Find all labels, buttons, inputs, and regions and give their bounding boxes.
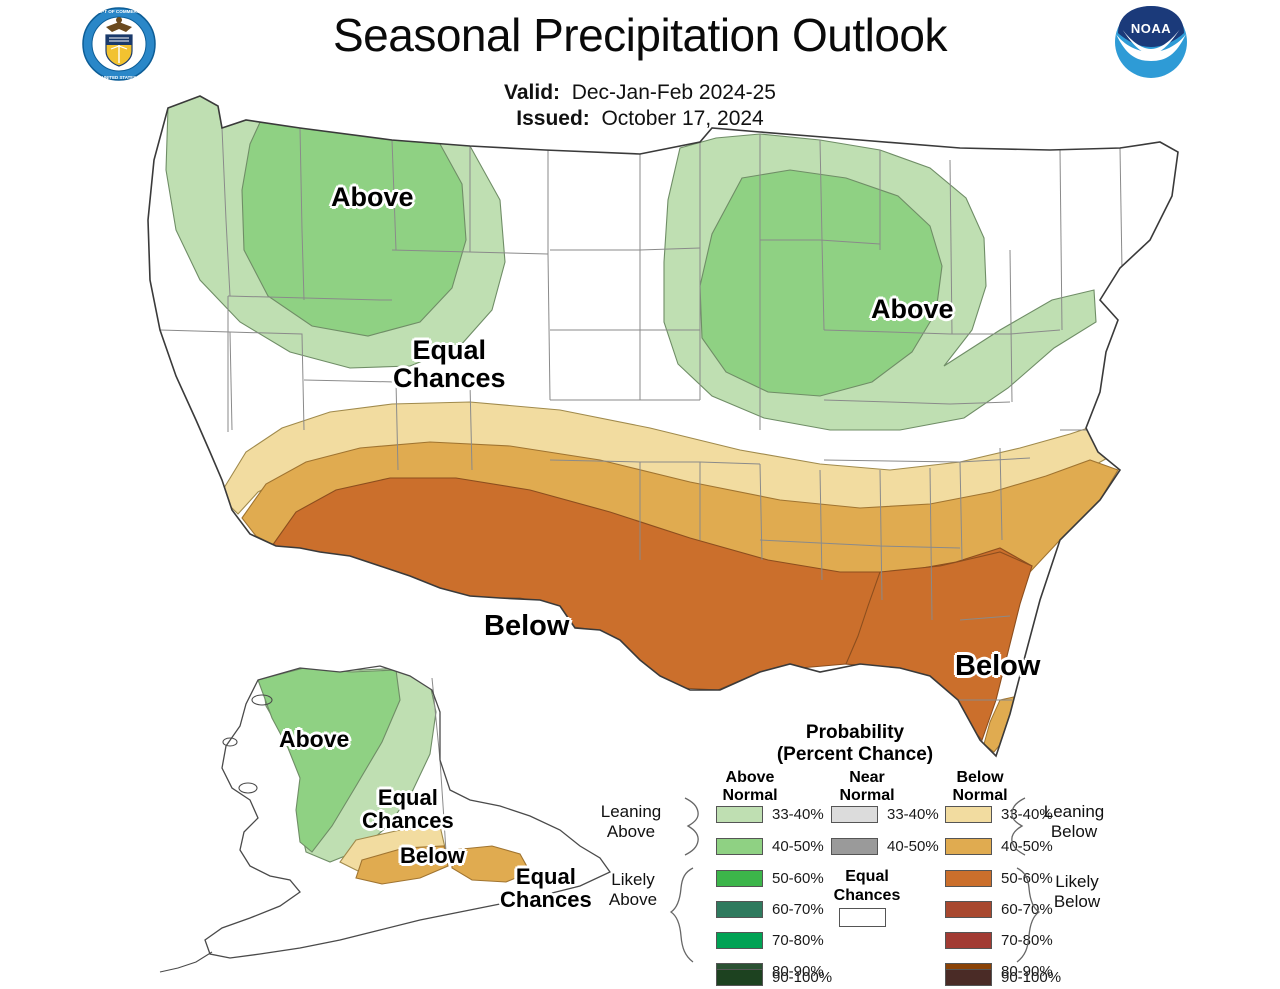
legend-label-above-40-50: 40-50%	[772, 838, 824, 855]
legend-row-above-0: 33-40%	[716, 803, 824, 825]
legend-eq-line1: Equal	[822, 867, 912, 886]
legend-group-leaning-below: Leaning Below	[1028, 802, 1120, 842]
legend-label-below-70-80: 70-80%	[1001, 932, 1053, 949]
legend-row-above-1: 40-50%	[716, 835, 824, 857]
legend-head-line: Near	[822, 769, 912, 787]
legend-swatch-above-70-80	[716, 932, 763, 949]
legend-label-above-90-100: 90-100%	[772, 969, 832, 986]
legend-swatch-above-33-40	[716, 806, 763, 823]
legend-label-above-70-80: 70-80%	[772, 932, 824, 949]
valid-value: Dec-Jan-Feb 2024-25	[572, 81, 776, 104]
map-label-alaska-above: Above	[279, 728, 349, 752]
legend-head-line: Below	[935, 769, 1025, 787]
legend-column-header-below: Below Normal	[935, 769, 1025, 805]
map-label-below-southeast: Below	[955, 651, 1040, 681]
precipitation-outlook-page: Above Equal Chances Above Below Below Ab…	[0, 0, 1280, 989]
legend-swatch-above-40-50	[716, 838, 763, 855]
legend-group-line: Above	[585, 822, 677, 842]
legend-swatch-above-90-100	[716, 969, 763, 986]
legend-row-below-4: 70-80%	[945, 929, 1053, 951]
legend-label-near-40-50: 40-50%	[887, 838, 939, 855]
legend-swatch-above-50-60	[716, 870, 763, 887]
issued-spacer	[590, 107, 602, 130]
legend-swatch-below-33-40	[945, 806, 992, 823]
legend-group-line: Above	[587, 890, 679, 910]
legend-swatch-below-60-70	[945, 901, 992, 918]
legend-row-near-1: 40-50%	[831, 835, 939, 857]
legend-swatch-below-90-100	[945, 969, 992, 986]
legend-group-likely-above: Likely Above	[587, 870, 679, 910]
legend-row-near-0: 33-40%	[831, 803, 939, 825]
legend-column-header-near: Near Normal	[822, 769, 912, 805]
legend-row-above-90-100: 90-100%	[716, 966, 832, 988]
legend-group-line: Below	[1028, 822, 1120, 842]
legend-swatch-equal-chances	[839, 908, 886, 927]
issued-label: Issued:	[516, 107, 590, 130]
legend-row-above-2: 50-60%	[716, 867, 824, 889]
issued-value: October 17, 2024	[601, 107, 763, 130]
legend-group-line: Leaning	[585, 802, 677, 822]
legend-label-above-50-60: 50-60%	[772, 870, 824, 887]
legend-group-line: Below	[1031, 892, 1123, 912]
legend-swatch-below-50-60	[945, 870, 992, 887]
legend-swatch-above-60-70	[716, 901, 763, 918]
legend-eq-line2: Chances	[822, 886, 912, 905]
map-label-line: Equal	[393, 336, 506, 364]
legend-group-leaning-above: Leaning Above	[585, 802, 677, 842]
valid-spacer	[560, 81, 572, 104]
map-label-above-lakes: Above	[871, 295, 954, 323]
legend-row-above-4: 70-80%	[716, 929, 824, 951]
valid-label: Valid:	[504, 81, 560, 104]
map-label-line: Equal	[500, 866, 592, 889]
legend-group-likely-below: Likely Below	[1031, 872, 1123, 912]
map-label-alaska-equal-chances-1: Equal Chances	[362, 787, 454, 833]
page-title: Seasonal Precipitation Outlook	[0, 8, 1280, 62]
map-label-line: Equal	[362, 787, 454, 810]
issued-row: Issued: October 17, 2024	[0, 106, 1280, 132]
map-label-above-west: Above	[331, 183, 414, 211]
legend-group-line: Leaning	[1028, 802, 1120, 822]
legend-label-above-33-40: 33-40%	[772, 806, 824, 823]
legend-label-below-90-100: 90-100%	[1001, 969, 1061, 986]
map-label-alaska-equal-chances-2: Equal Chances	[500, 866, 592, 912]
outlook-dates: Valid: Dec-Jan-Feb 2024-25 Issued: Octob…	[0, 80, 1280, 132]
legend-swatch-near-40-50	[831, 838, 878, 855]
legend-swatch-below-40-50	[945, 838, 992, 855]
map-label-line: Chances	[393, 364, 506, 392]
legend-row-below-90-100: 90-100%	[945, 966, 1061, 988]
valid-row: Valid: Dec-Jan-Feb 2024-25	[0, 80, 1280, 106]
legend-group-line: Likely	[1031, 872, 1123, 892]
legend-row-above-3: 60-70%	[716, 898, 824, 920]
legend-label-above-60-70: 60-70%	[772, 901, 824, 918]
map-label-alaska-below: Below	[400, 845, 465, 868]
legend-head-line: Above	[705, 769, 795, 787]
probability-legend: Probability (Percent Chance) Above Norma…	[585, 722, 1125, 988]
map-label-equal-chances-west: Equal Chances	[393, 336, 506, 392]
map-label-line: Chances	[362, 810, 454, 833]
legend-column-header-above: Above Normal	[705, 769, 795, 805]
legend-group-line: Likely	[587, 870, 679, 890]
legend-swatch-near-33-40	[831, 806, 878, 823]
legend-label-near-33-40: 33-40%	[887, 806, 939, 823]
legend-title-line1: Probability	[715, 722, 995, 744]
map-label-below-south: Below	[484, 611, 569, 641]
legend-equal-chances-label: Equal Chances	[822, 867, 912, 905]
legend-title: Probability (Percent Chance)	[715, 722, 995, 766]
legend-swatch-below-70-80	[945, 932, 992, 949]
map-label-line: Chances	[500, 889, 592, 912]
legend-title-line2: (Percent Chance)	[715, 744, 995, 766]
